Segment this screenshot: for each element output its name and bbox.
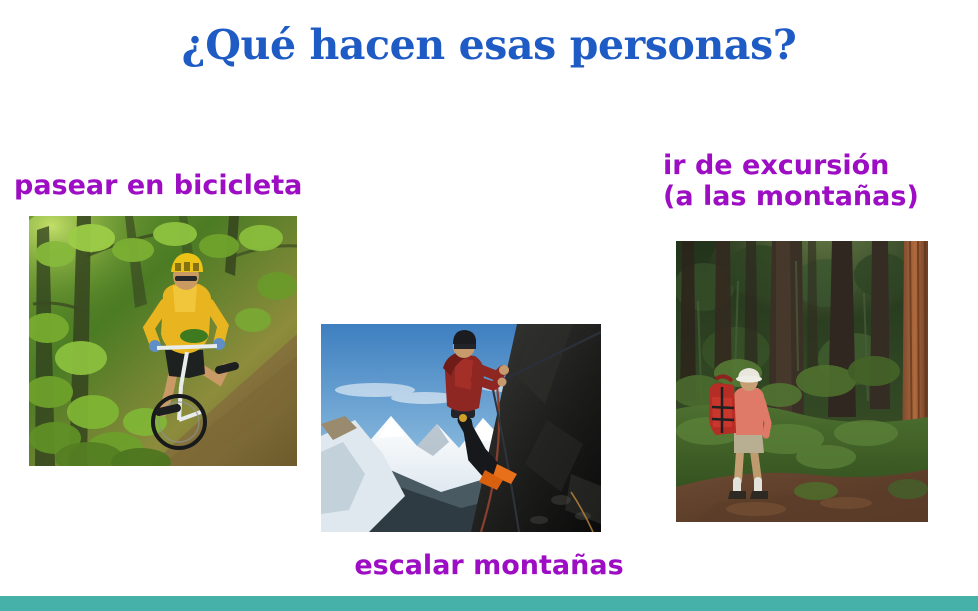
rock-climbing-photo	[321, 324, 601, 532]
caption-ir-de-excursion: ir de excursión (a las montañas)	[663, 150, 919, 213]
mountain-bike-photo	[29, 216, 297, 466]
caption-escalar-montanas: escalar montañas	[0, 550, 978, 581]
forest-hiking-photo	[676, 241, 928, 522]
mountain-bike-illustration	[29, 216, 297, 466]
slide-canvas: ¿Qué hacen esas personas? pasear en bici…	[0, 0, 978, 611]
caption-pasear-en-bicicleta: pasear en bicicleta	[14, 170, 302, 201]
page-title: ¿Qué hacen esas personas?	[0, 22, 978, 69]
bottom-accent-bar	[0, 596, 978, 611]
forest-hiking-illustration	[676, 241, 928, 522]
rock-climbing-illustration	[321, 324, 601, 532]
